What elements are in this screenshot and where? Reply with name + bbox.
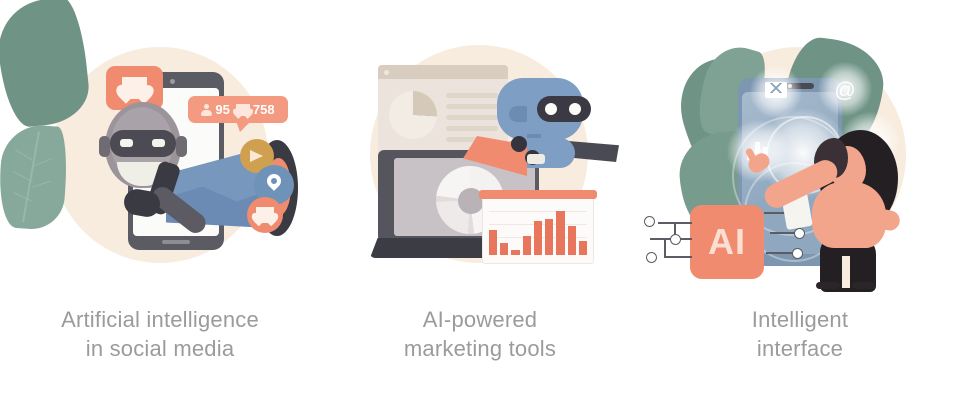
heart-icon bbox=[122, 77, 147, 99]
panel-artificial-intelligence-in-social-media: 95 758 Artificial intelligence in social… bbox=[0, 0, 320, 411]
browser-dot bbox=[384, 70, 389, 75]
robot-ear-left bbox=[99, 136, 110, 157]
circuit-node bbox=[644, 216, 655, 227]
chart-stand bbox=[535, 168, 539, 190]
envelope-icon[interactable] bbox=[765, 82, 787, 98]
caption-line-1: Intelligent bbox=[640, 305, 960, 334]
bar bbox=[523, 236, 531, 255]
leaf-shape-highlight bbox=[0, 123, 70, 231]
likes-count: 758 bbox=[253, 103, 275, 116]
location-pin-icon bbox=[264, 171, 284, 191]
phone-camera-dot bbox=[170, 79, 175, 84]
send-icon bbox=[250, 150, 263, 162]
heart-icon-bubble bbox=[247, 197, 283, 233]
circuit-node bbox=[670, 234, 681, 245]
panel-caption: AI-powered marketing tools bbox=[320, 305, 640, 363]
envelope-icon-glyph bbox=[765, 82, 787, 98]
caption-line-2: in social media bbox=[0, 334, 320, 363]
panel-intelligent-interface: @ AI bbox=[640, 0, 960, 411]
ai-chip: AI bbox=[690, 205, 764, 279]
shoe-right bbox=[852, 282, 876, 289]
heart-icon bbox=[256, 207, 274, 223]
ai-chip-label: AI bbox=[690, 205, 764, 279]
illustration-marketing-tools bbox=[320, 0, 640, 295]
robot bbox=[475, 78, 600, 188]
illustration-social-media: 95 758 bbox=[0, 0, 320, 295]
chart-board-header bbox=[479, 190, 597, 199]
likes-stat: 758 bbox=[236, 103, 275, 116]
panel-caption: Intelligent interface bbox=[640, 305, 960, 363]
followers-count: 95 bbox=[215, 103, 229, 116]
circuit-node bbox=[646, 252, 657, 263]
robot-head bbox=[497, 78, 583, 140]
robot-wrist bbox=[527, 154, 545, 164]
bar bbox=[545, 219, 553, 255]
at-sign-icon[interactable]: @ bbox=[834, 79, 856, 101]
bar bbox=[568, 226, 576, 255]
at-sign-glyph: @ bbox=[834, 80, 855, 101]
panel-ai-powered-marketing-tools: AI-powered marketing tools bbox=[320, 0, 640, 411]
browser-titlebar bbox=[378, 65, 508, 79]
robot-ear-left bbox=[509, 106, 527, 122]
bar-chart-board bbox=[482, 196, 594, 264]
circuit-trace bbox=[664, 256, 692, 258]
shoe-left bbox=[816, 282, 840, 289]
leaf-vein bbox=[15, 149, 33, 161]
caption-line-1: Artificial intelligence bbox=[0, 305, 320, 334]
bar bbox=[556, 211, 564, 255]
leg-gap bbox=[842, 256, 850, 288]
illustration-board: 95 758 Artificial intelligence in social… bbox=[0, 0, 960, 411]
robot-eye-right bbox=[569, 103, 581, 115]
bar bbox=[489, 230, 497, 255]
person-icon bbox=[201, 104, 212, 116]
robot-joint bbox=[511, 136, 527, 152]
pie-chart bbox=[389, 91, 437, 139]
leaf-vein bbox=[13, 192, 32, 201]
bar-chart-plot bbox=[489, 207, 587, 255]
circuit-trace bbox=[664, 238, 666, 256]
bar bbox=[534, 221, 542, 255]
illustration-intelligent-interface: @ AI bbox=[640, 0, 960, 295]
leaf-vein bbox=[32, 181, 51, 188]
bar bbox=[500, 243, 508, 255]
robot-eye-left bbox=[545, 103, 557, 115]
bar bbox=[579, 241, 587, 255]
caption-line-2: marketing tools bbox=[320, 334, 640, 363]
followers-stat: 95 bbox=[201, 103, 229, 116]
panel-caption: Artificial intelligence in social media bbox=[0, 305, 320, 363]
leaf-shape bbox=[0, 0, 92, 129]
heart-icon bbox=[236, 104, 250, 116]
leaf-vein bbox=[34, 158, 53, 167]
caption-line-1: AI-powered bbox=[320, 305, 640, 334]
woman-character bbox=[790, 130, 910, 292]
bar bbox=[511, 250, 519, 255]
robot-visor bbox=[537, 96, 591, 122]
caption-line-2: interface bbox=[640, 334, 960, 363]
stats-bubble: 95 758 bbox=[188, 96, 288, 123]
